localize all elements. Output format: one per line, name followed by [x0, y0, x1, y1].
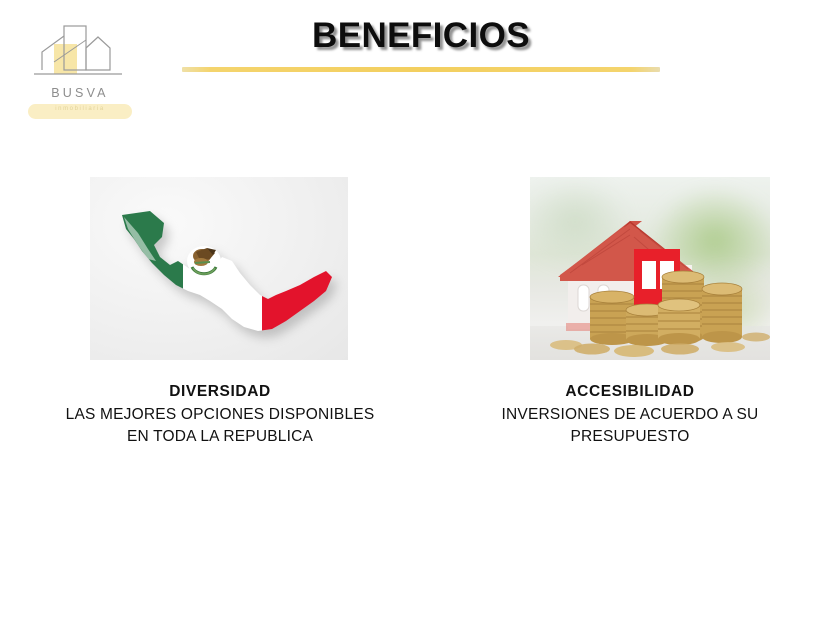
benefit-description-line-1: INVERSIONES DE ACUERDO A SU: [502, 406, 759, 423]
buildings-logo-icon: [24, 22, 136, 88]
benefit-description-line-2: EN TODA LA REPUBLICA: [127, 428, 313, 445]
benefit-card-accesibilidad: ACCESIBILIDAD INVERSIONES DE ACUERDO A S…: [440, 177, 820, 448]
house-and-coins-image: [530, 177, 770, 360]
logo-subtitle-band: inmobiliaria: [28, 104, 132, 119]
benefit-description: LAS MEJORES OPCIONES DISPONIBLES EN TODA…: [20, 404, 420, 448]
slide-canvas: BUSVA inmobiliaria BENEFICIOS: [0, 0, 840, 630]
house-coins-shapes: [530, 177, 770, 360]
benefit-description: INVERSIONES DE ACUERDO A SU PRESUPUESTO: [440, 404, 820, 448]
benefit-caption: DIVERSIDAD LAS MEJORES OPCIONES DISPONIB…: [20, 382, 420, 448]
benefit-description-line-2: PRESUPUESTO: [570, 428, 689, 445]
benefit-description-line-1: LAS MEJORES OPCIONES DISPONIBLES: [66, 406, 375, 423]
brand-logo[interactable]: BUSVA inmobiliaria: [24, 22, 136, 122]
mexico-outline-shape: [104, 199, 340, 344]
benefit-card-diversidad: DIVERSIDAD LAS MEJORES OPCIONES DISPONIB…: [20, 177, 420, 448]
benefit-caption: ACCESIBILIDAD INVERSIONES DE ACUERDO A S…: [440, 382, 820, 448]
benefit-title: DIVERSIDAD: [20, 382, 420, 401]
logo-wordmark: BUSVA: [24, 86, 136, 100]
benefit-title: ACCESIBILIDAD: [440, 382, 820, 401]
logo-subtitle: inmobiliaria: [28, 106, 132, 112]
eagle-emblem-icon: [187, 246, 221, 276]
page-title: BENEFICIOS: [182, 18, 660, 55]
title-underline-rule: [182, 67, 660, 72]
mexico-map-flag-image: [90, 177, 348, 360]
